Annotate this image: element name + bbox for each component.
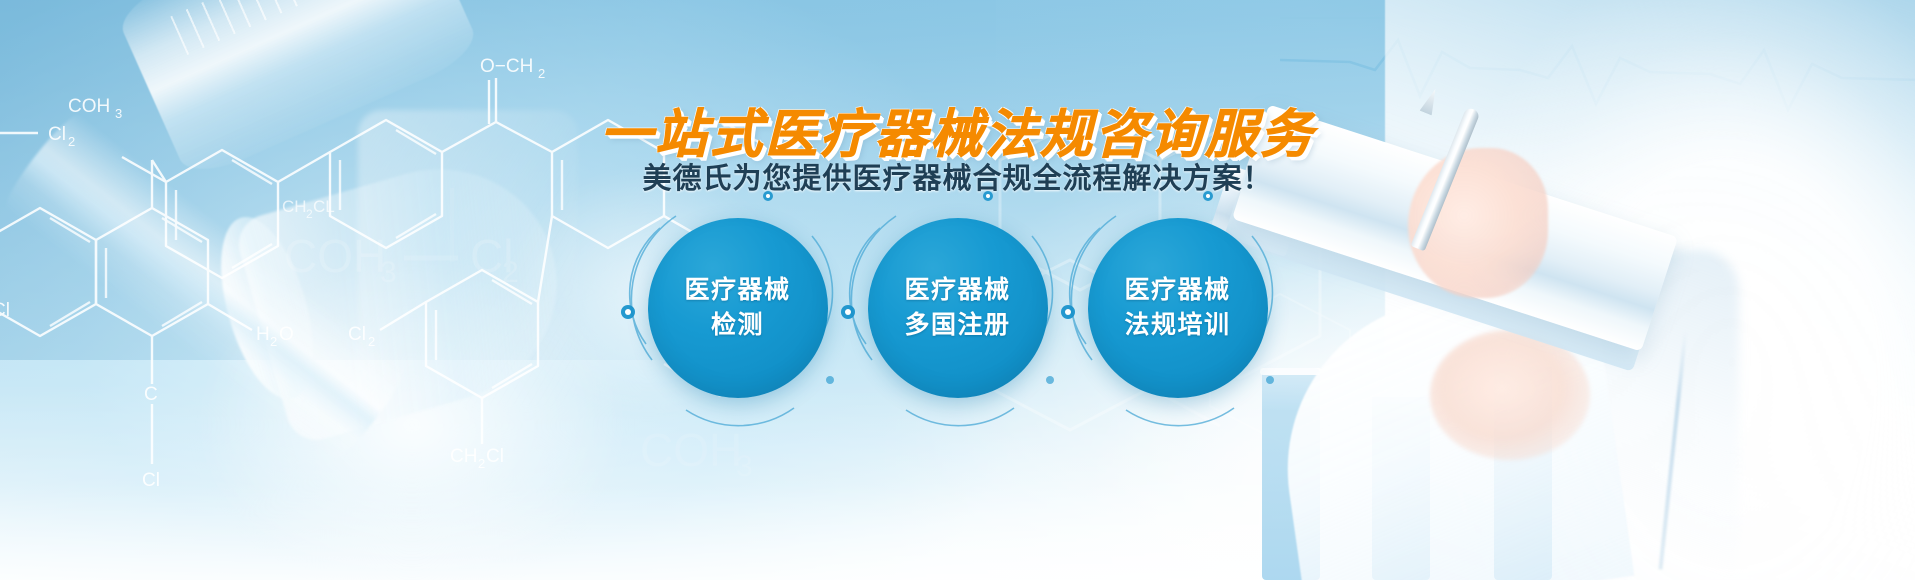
chem-label-ch2cl-bottom: CH [450, 446, 477, 467]
service-label-line2: 法规培训 [1124, 308, 1230, 344]
service-circle-body[interactable]: 医疗器械 多国注册 [868, 218, 1048, 398]
service-circle-training[interactable]: 医疗器械 法规培训 [1088, 218, 1268, 398]
service-label-line1: 医疗器械 [1124, 273, 1230, 309]
service-circle-list: 医疗器械 检测 医疗 [0, 218, 1915, 398]
service-circle-registration[interactable]: 医疗器械 多国注册 [868, 218, 1048, 398]
chem-label-och2-sub: 2 [538, 66, 545, 81]
service-label-line2: 检测 [711, 308, 764, 344]
chem-label-ch2cl-upper-tail: CL [313, 197, 335, 216]
service-label-line1: 医疗器械 [904, 273, 1010, 309]
chem-label-ch2cl-bottom-tail: Cl [486, 446, 504, 467]
service-circle-detection[interactable]: 医疗器械 检测 [648, 218, 828, 398]
chem-label-ch2cl-upper: CH [282, 197, 307, 216]
service-label-line1: 医疗器械 [684, 273, 790, 309]
promo-banner: COH3 Cl2 COH3 [0, 0, 1915, 580]
service-label-line2: 多国注册 [904, 308, 1010, 344]
service-circle-body[interactable]: 医疗器械 检测 [648, 218, 828, 398]
chem-label-och2: O−CH [480, 56, 533, 77]
service-circle-body[interactable]: 医疗器械 法规培训 [1088, 218, 1268, 398]
chem-label-cl-bottom: Cl [142, 470, 160, 491]
chem-label-ch2cl-bottom-sub: 2 [478, 456, 485, 471]
